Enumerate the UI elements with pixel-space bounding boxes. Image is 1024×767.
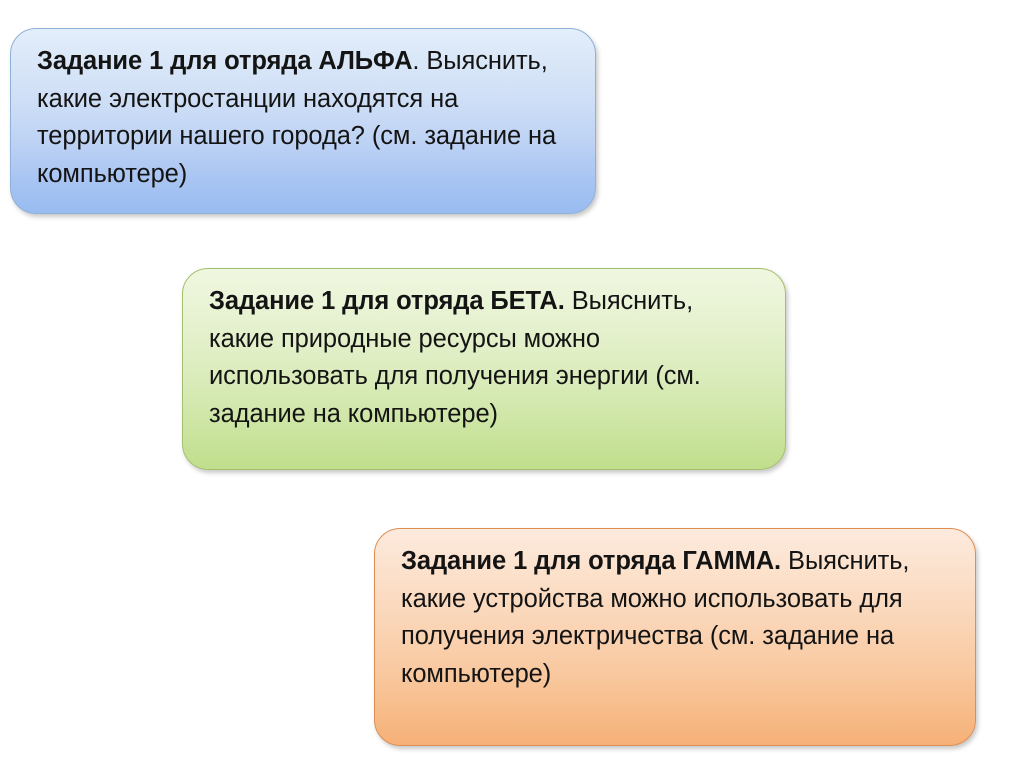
callout-beta[interactable]: Задание 1 для отряда БЕТА. Выяснить, как… <box>182 268 786 470</box>
callout-gamma-text: Задание 1 для отряда ГАММА. Выяснить, ка… <box>401 543 953 693</box>
callout-alpha[interactable]: Задание 1 для отряда АЛЬФА. Выяснить, ка… <box>10 28 596 214</box>
callout-alpha-lead: Задание 1 для отряда АЛЬФА <box>37 47 412 75</box>
callout-alpha-text: Задание 1 для отряда АЛЬФА. Выяснить, ка… <box>37 43 573 193</box>
callout-beta-text: Задание 1 для отряда БЕТА. Выяснить, как… <box>209 283 763 433</box>
slide-canvas: Задание 1 для отряда АЛЬФА. Выяснить, ка… <box>0 0 1024 767</box>
callout-gamma-lead: Задание 1 для отряда ГАММА. <box>401 547 781 575</box>
callout-beta-lead: Задание 1 для отряда БЕТА. <box>209 287 565 315</box>
callout-gamma[interactable]: Задание 1 для отряда ГАММА. Выяснить, ка… <box>374 528 976 746</box>
